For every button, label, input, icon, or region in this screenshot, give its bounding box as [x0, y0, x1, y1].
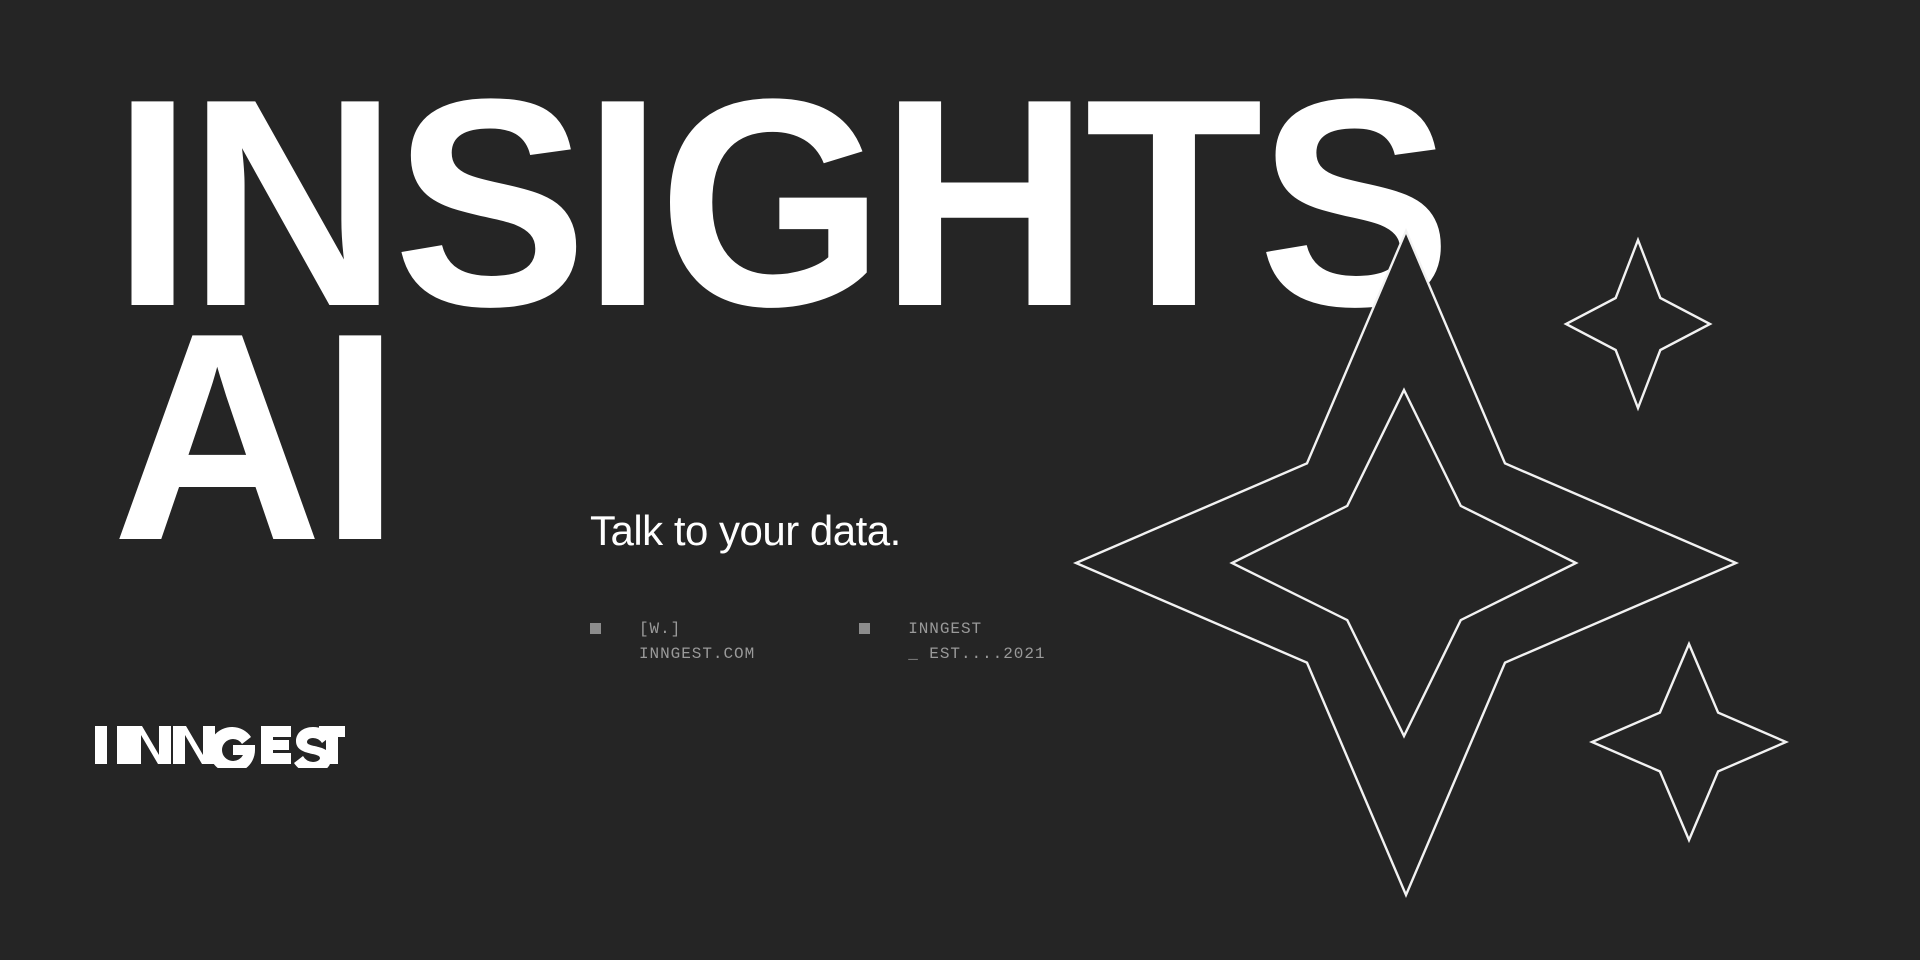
meta-line-value[interactable]: INNGEST.COM [639, 643, 755, 666]
meta-item-lines: INNGEST _ EST....2021 [908, 618, 1045, 666]
meta-item-brand: INNGEST _ EST....2021 [859, 618, 1045, 666]
square-bullet-icon [590, 623, 601, 634]
inngest-wordmark-icon [95, 722, 345, 768]
meta-item-website: [W.] INNGEST.COM [590, 618, 755, 666]
meta-line-label: INNGEST [908, 618, 1045, 641]
star-small-top-right [1566, 240, 1710, 408]
meta-item-lines: [W.] INNGEST.COM [639, 618, 755, 666]
meta-row: [W.] INNGEST.COM INNGEST _ EST....2021 [590, 618, 1046, 666]
meta-line-label: [W.] [639, 618, 755, 641]
square-bullet-icon [859, 623, 870, 634]
poster-canvas: INSIGHTS AI Talk to your data. [W.] INNG… [0, 0, 1920, 960]
star-small-bottom-right [1592, 644, 1786, 840]
page-title: INSIGHTS AI [112, 86, 1447, 554]
meta-line-value: _ EST....2021 [908, 643, 1045, 666]
inngest-logo[interactable] [95, 722, 345, 768]
tagline: Talk to your data. [590, 508, 901, 554]
